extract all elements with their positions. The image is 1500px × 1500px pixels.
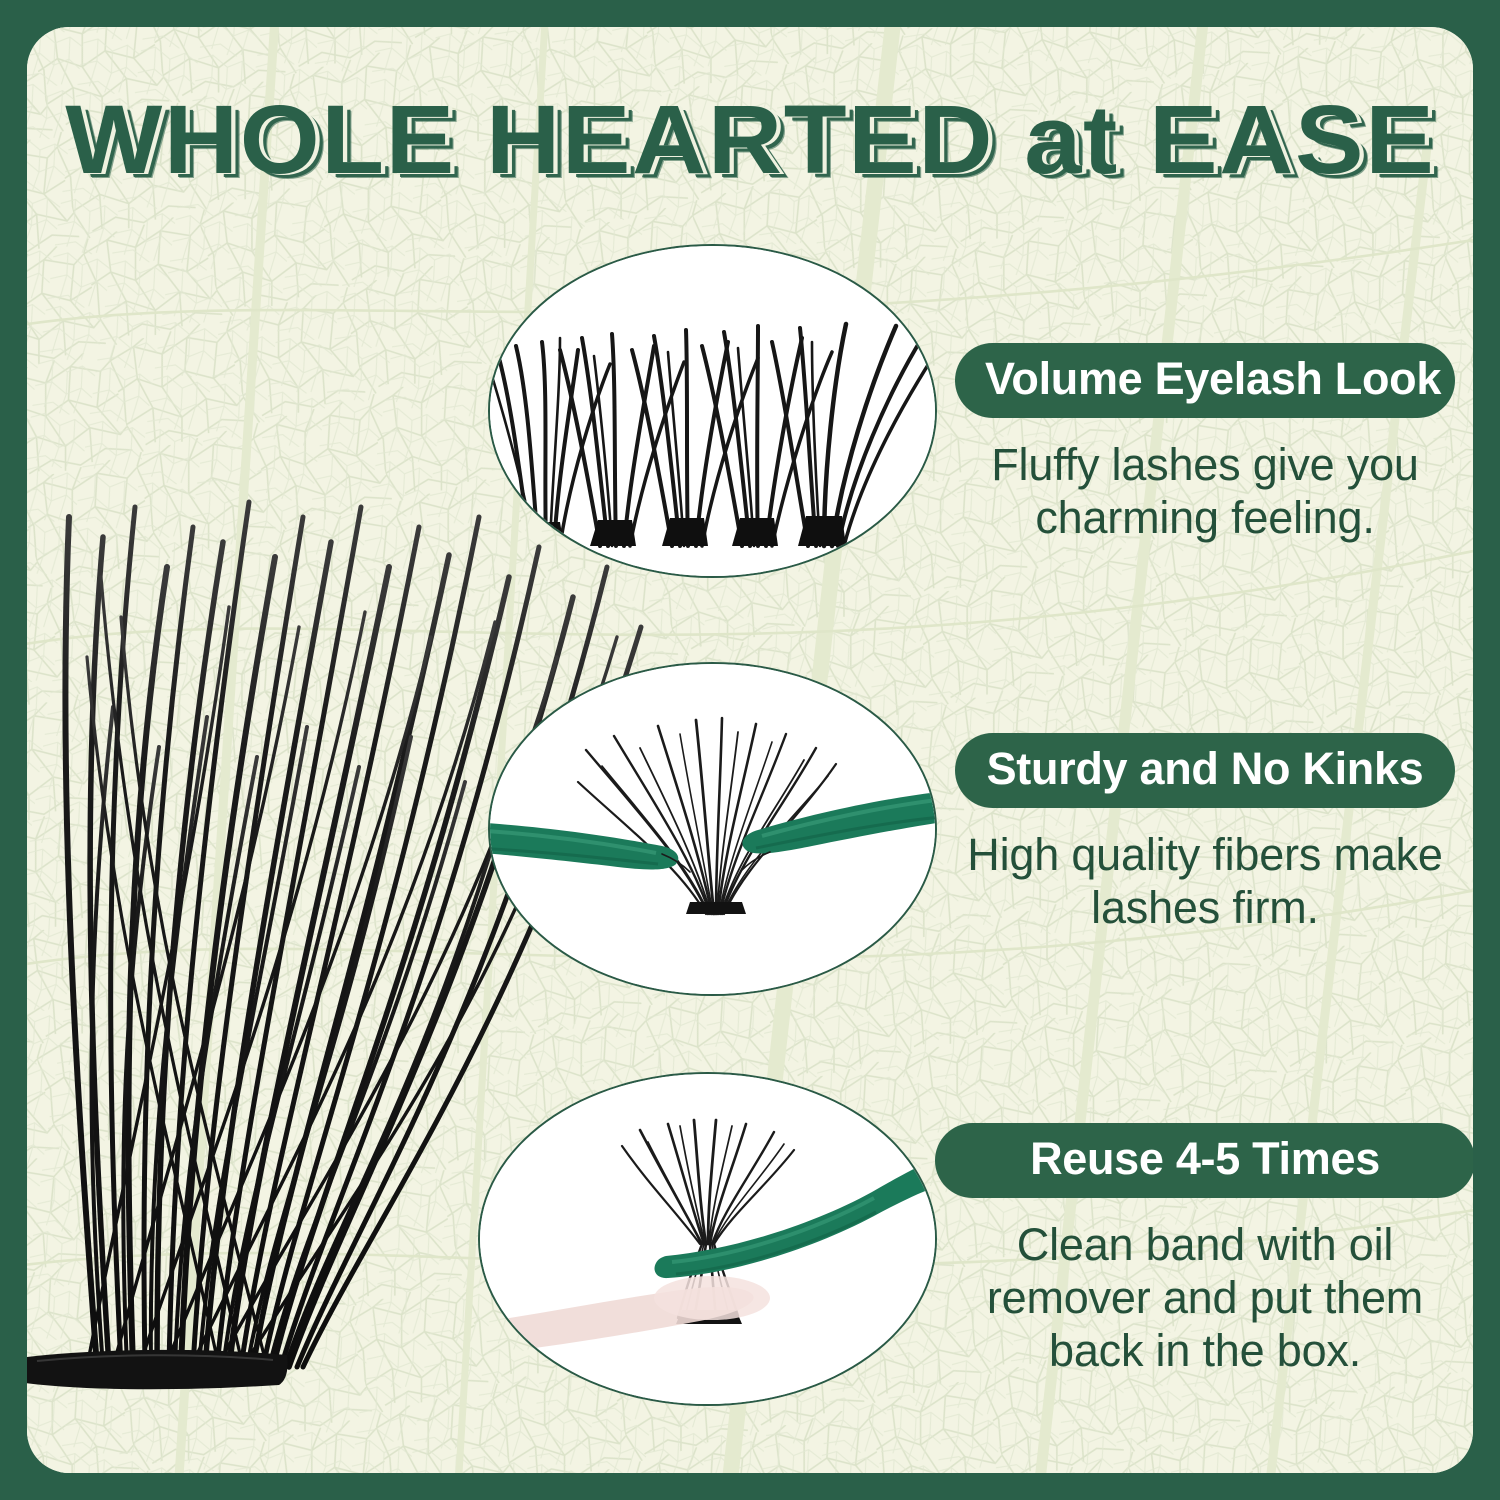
feature-badge-3: Reuse 4-5 Times [935,1123,1473,1198]
feature-block-1: Volume Eyelash Look Fluffy lashes give y… [955,343,1455,544]
poster-title-area: WHOLE HEARTED at EASE [27,85,1473,205]
feature-badge-2: Sturdy and No Kinks [955,733,1455,808]
feature-description-3: Clean band with oil remover and put them… [935,1218,1473,1377]
feature-badge-1: Volume Eyelash Look [955,343,1455,418]
poster-border: WHOLE HEARTED at EASE [0,0,1500,1500]
feature-block-3: Reuse 4-5 Times Clean band with oil remo… [935,1123,1473,1377]
feature-block-2: Sturdy and No Kinks High quality fibers … [955,733,1455,934]
poster-panel: WHOLE HEARTED at EASE [27,27,1473,1473]
feature-image-reuse-4-5-times [478,1072,937,1406]
feature-image-volume-eyelash-look [488,244,937,578]
feature-image-sturdy-and-no-kinks [488,662,937,996]
feature-description-2: High quality fibers make lashes firm. [955,828,1455,934]
page-title: WHOLE HEARTED at EASE [65,85,1435,195]
feature-description-1: Fluffy lashes give you charming feeling. [955,438,1455,544]
